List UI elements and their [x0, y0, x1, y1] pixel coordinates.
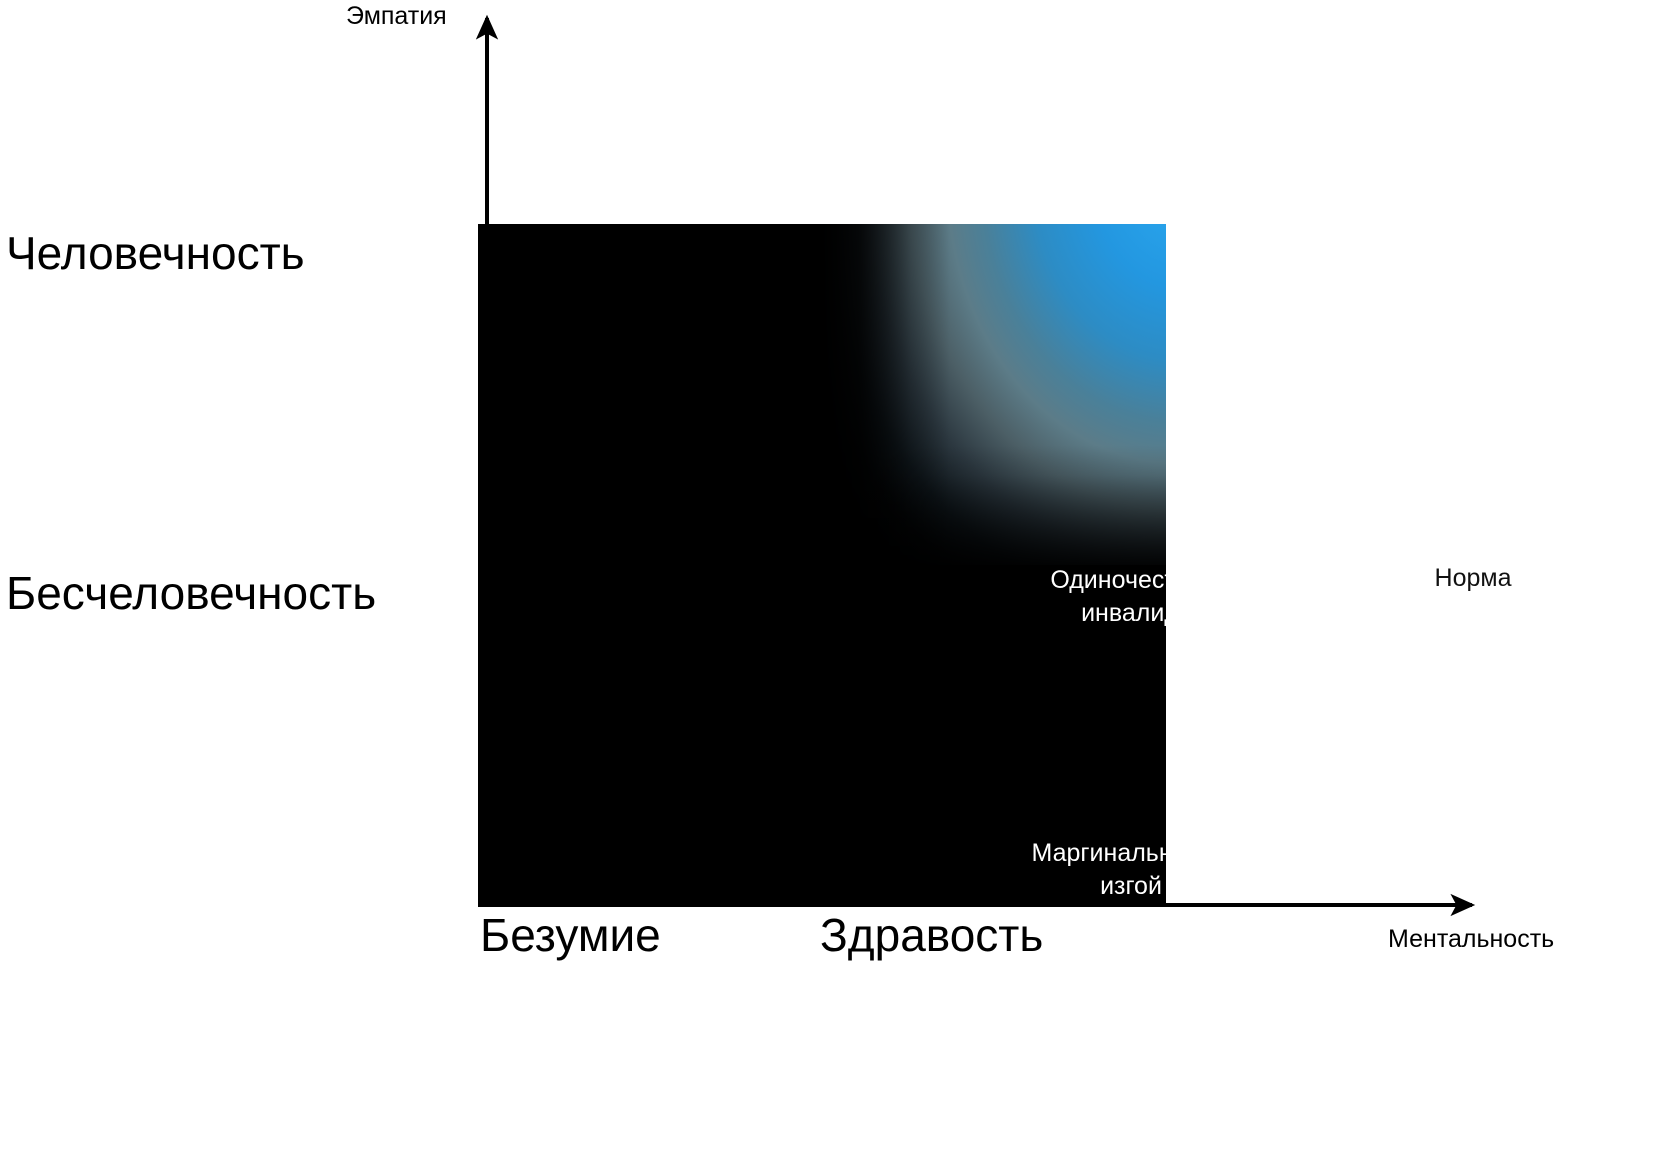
y-axis-tick-label-inhumanity: Бесчеловечность — [6, 566, 376, 620]
norm-highlight-gradient — [820, 224, 1166, 565]
quadrant-label-egoism-scoundrel: Эгоизм, подлец — [1314, 837, 1650, 870]
quadrant-label-norm: Норма — [1340, 562, 1606, 595]
diagram-canvas: Одиночество, инвалид Норма Маргинальност… — [0, 0, 1666, 1150]
x-axis-tick-label-madness: Безумие — [480, 908, 661, 962]
quadrant-label-lonely-invalid: Одиночество, инвалид — [986, 564, 1274, 629]
gradient-bottom-fade — [820, 445, 1166, 565]
x-axis-title: Ментальность — [1388, 925, 1554, 954]
plot-area: Одиночество, инвалид Норма Маргинальност… — [478, 224, 1166, 905]
x-axis-tick-label-sanity: Здравость — [820, 908, 1043, 962]
y-axis-tick-label-humanity: Человечность — [6, 226, 305, 280]
quadrant-label-marginal-outcast: Маргинальность, изгой — [968, 837, 1294, 902]
y-axis-title: Эмпатия — [346, 2, 447, 31]
